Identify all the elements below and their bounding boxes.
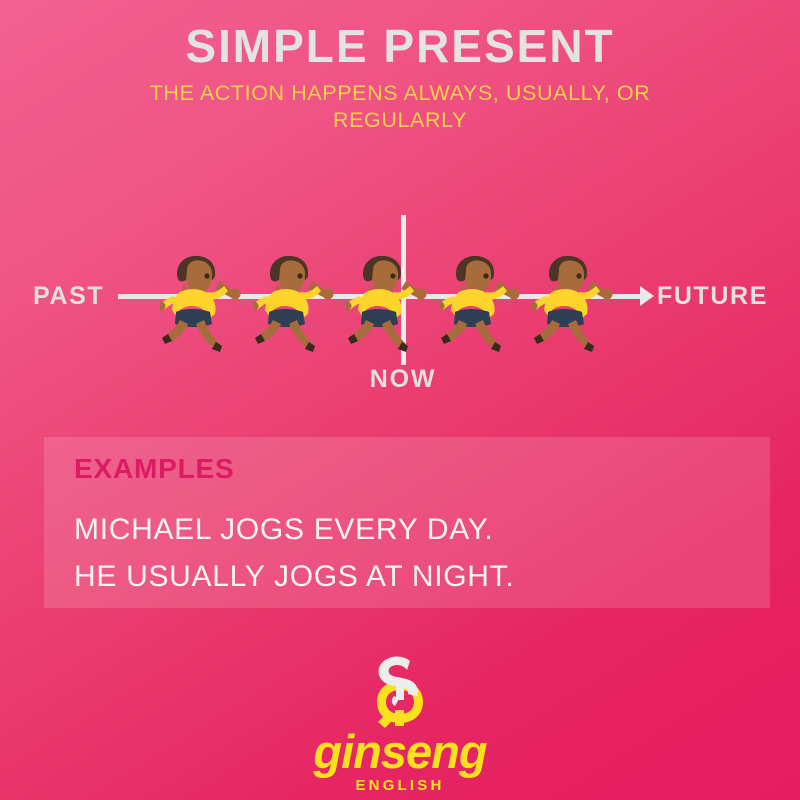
running-person-icon <box>253 248 339 354</box>
arrow-right-icon <box>640 286 654 306</box>
running-person-icon <box>346 248 432 354</box>
examples-list: MICHAEL JOGS EVERY DAY. HE USUALLY JOGS … <box>74 507 744 600</box>
page-subtitle: THE ACTION HAPPENS ALWAYS, USUALLY, OR R… <box>100 80 700 134</box>
brand-logo: ginseng ENGLISH <box>0 652 800 793</box>
example-sentence: HE USUALLY JOGS AT NIGHT. <box>74 554 744 601</box>
running-person-icon <box>439 248 525 354</box>
timeline-label-past: PAST <box>33 284 104 309</box>
page-title: SIMPLE PRESENT <box>0 22 800 71</box>
infographic-poster: SIMPLE PRESENT THE ACTION HAPPENS ALWAYS… <box>0 0 800 800</box>
logo-wordmark: ginseng <box>0 728 800 775</box>
running-person-icon <box>532 248 618 354</box>
examples-panel: EXAMPLES MICHAEL JOGS EVERY DAY. HE USUA… <box>44 437 770 608</box>
timeline-label-future: FUTURE <box>657 284 768 309</box>
examples-heading: EXAMPLES <box>74 455 234 483</box>
ginseng-root-monogram-icon <box>364 652 436 730</box>
timeline-diagram: PAST FUTURE NOW <box>0 200 800 420</box>
header: SIMPLE PRESENT THE ACTION HAPPENS ALWAYS… <box>0 22 800 134</box>
logo-subtext: ENGLISH <box>0 778 800 793</box>
running-person-icon <box>160 248 246 354</box>
timeline-label-now: NOW <box>0 367 800 392</box>
example-sentence: MICHAEL JOGS EVERY DAY. <box>74 507 744 554</box>
